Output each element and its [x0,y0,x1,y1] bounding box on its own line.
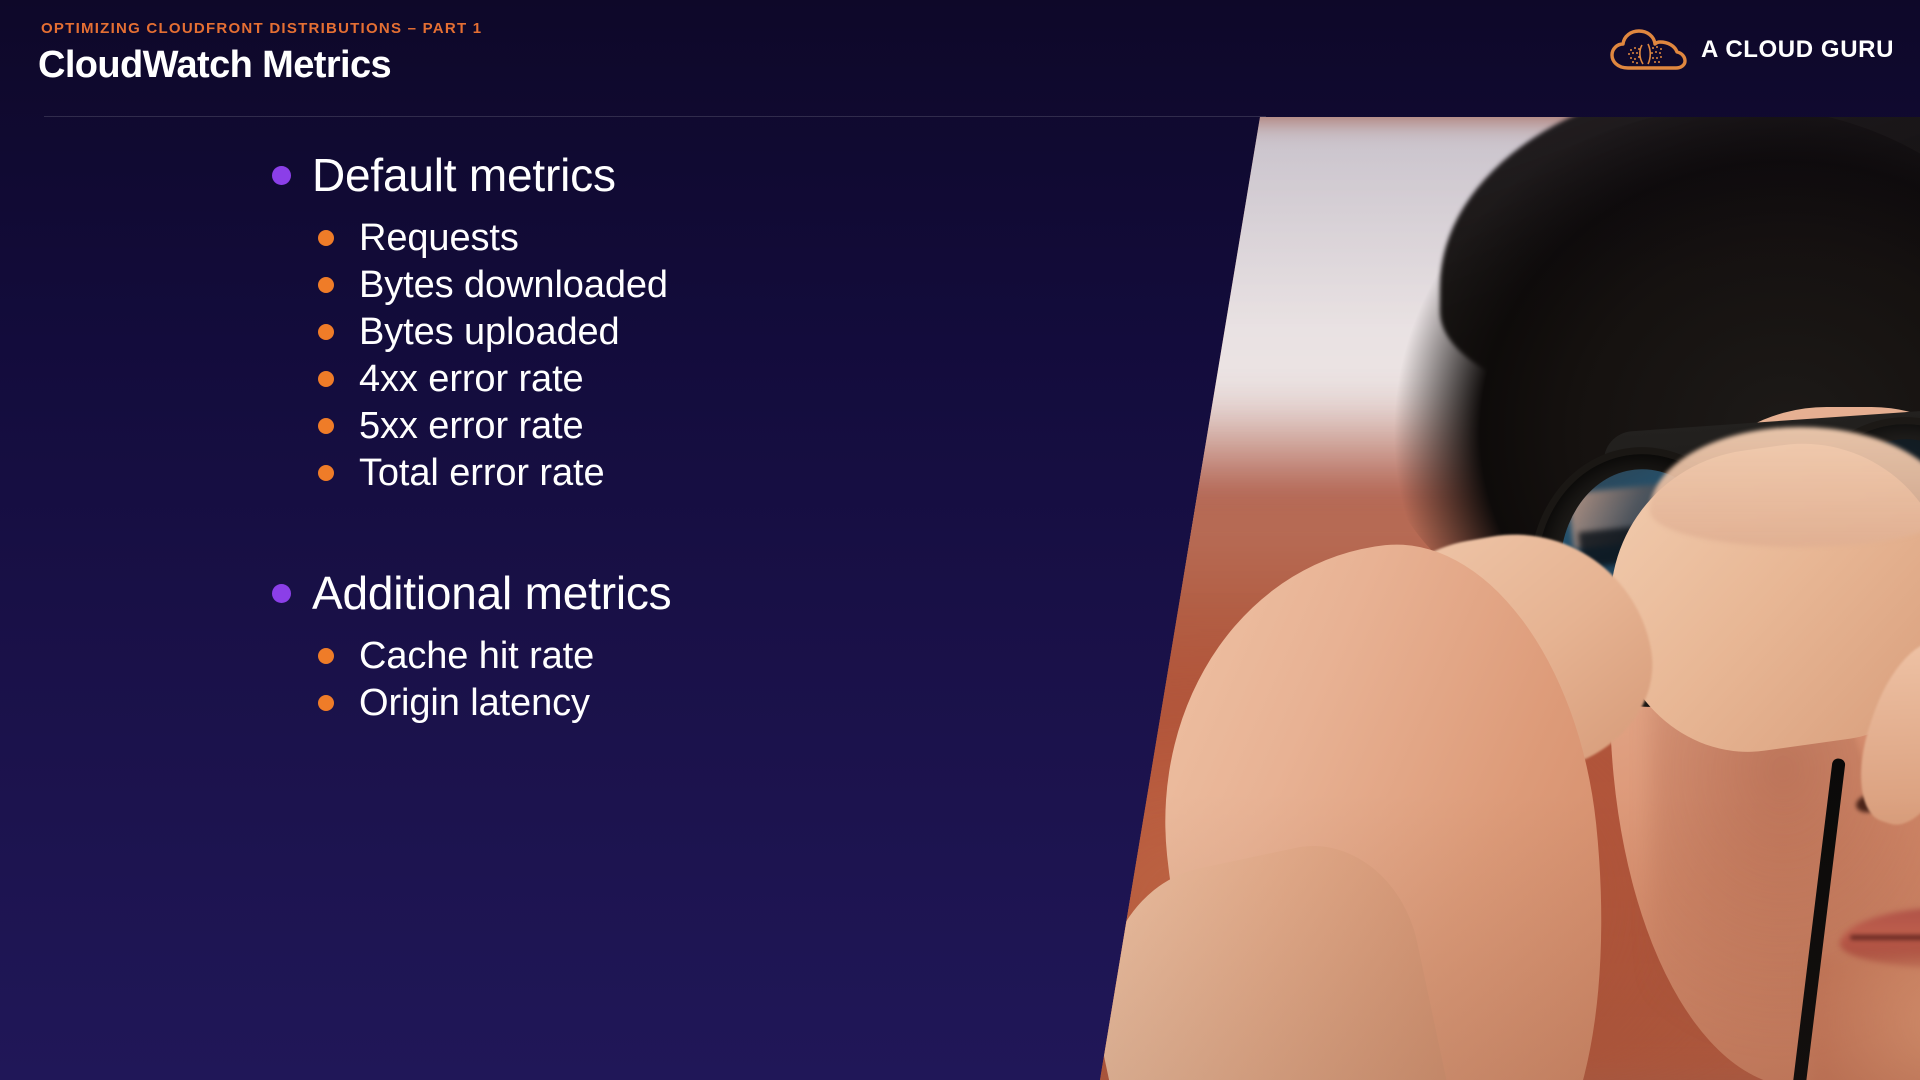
bullet-dot-orange [318,465,334,481]
bullet-level2-label: 4xx error rate [359,360,584,398]
bullet-content: Default metrics Requests Bytes downloade… [0,140,1050,726]
bullet-group-default-metrics: Default metrics Requests Bytes downloade… [0,140,1050,496]
bullet-dot-purple [272,166,291,185]
bullet-dot-orange [318,418,334,434]
course-kicker: OPTIMIZING CLOUDFRONT DISTRIBUTIONS – PA… [41,20,482,37]
photo-overlay [1050,117,1920,1080]
bullet-level2: Bytes uploaded [0,308,1050,355]
bullet-sublist: Requests Bytes downloaded Bytes uploaded… [0,214,1050,496]
bullet-level2-label: Requests [359,219,519,257]
bullet-level2: 5xx error rate [0,402,1050,449]
bullet-level2-label: Bytes downloaded [359,266,668,304]
bullet-level2-label: Total error rate [359,454,605,492]
bullet-level1: Additional metrics [0,558,1050,628]
brand-logo: A CLOUD GURU [1609,28,1894,72]
bullet-level2: Bytes downloaded [0,261,1050,308]
page-title: CloudWatch Metrics [38,44,391,87]
bullet-dot-orange [318,695,334,711]
bullet-dot-orange [318,277,334,293]
header-divider [44,116,1266,117]
bullet-level2-label: Cache hit rate [359,637,594,675]
bullet-level2: Cache hit rate [0,632,1050,679]
brand-name: A CLOUD GURU [1701,36,1894,64]
bullet-dot-purple [272,584,291,603]
hero-photo [1050,117,1920,1080]
bullet-level2-label: Bytes uploaded [359,313,620,351]
bullet-dot-orange [318,648,334,664]
bullet-level2: Origin latency [0,679,1050,726]
bullet-dot-orange [318,371,334,387]
slide: OPTIMIZING CLOUDFRONT DISTRIBUTIONS – PA… [0,0,1920,1080]
bullet-level2: Total error rate [0,449,1050,496]
bullet-level1: Default metrics [0,140,1050,210]
bullet-level2-label: 5xx error rate [359,407,584,445]
bullet-level2: Requests [0,214,1050,261]
bullet-sublist: Cache hit rate Origin latency [0,632,1050,726]
bullet-level2-label: Origin latency [359,684,590,722]
cloud-icon [1609,28,1687,72]
bullet-dot-orange [318,324,334,340]
bullet-dot-orange [318,230,334,246]
photo-stage [1050,117,1920,1080]
bullet-level1-label: Default metrics [312,152,616,198]
bullet-level2: 4xx error rate [0,355,1050,402]
slide-header: OPTIMIZING CLOUDFRONT DISTRIBUTIONS – PA… [0,0,1920,117]
bullet-level1-label: Additional metrics [312,570,671,616]
bullet-group-additional-metrics: Additional metrics Cache hit rate Origin… [0,558,1050,726]
